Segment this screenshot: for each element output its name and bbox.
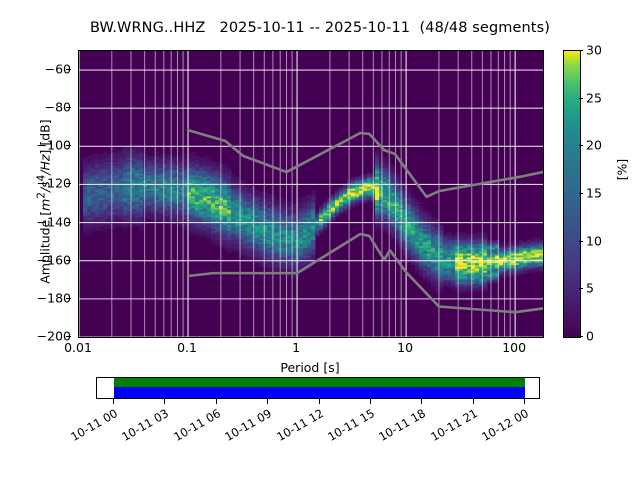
density-cell [531, 238, 535, 240]
density-cell [131, 148, 135, 150]
density-cell [427, 211, 431, 213]
density-cell [327, 198, 331, 200]
density-cell [411, 198, 415, 200]
density-cell [191, 152, 195, 154]
density-cell [227, 167, 231, 169]
ppsd-canvas [79, 51, 543, 337]
colorbar-tick-label: 5 [586, 281, 594, 296]
density-cell [483, 232, 487, 234]
density-cell [143, 154, 147, 156]
x-tick-label: 1 [292, 340, 300, 355]
density-cell [527, 240, 531, 242]
colorbar-tick-label: 20 [586, 138, 602, 153]
density-cell [243, 181, 247, 183]
colorbar-tick-label: 10 [586, 233, 602, 248]
density-cell [107, 154, 111, 156]
density-cell [119, 150, 123, 152]
x-tick-labels: 0.010.1110100 [78, 340, 542, 360]
density-cell [223, 163, 227, 165]
density-cell [307, 194, 311, 196]
density-cell [255, 190, 259, 192]
density-cell [443, 234, 447, 236]
density-cell [183, 154, 187, 156]
y-tick-mark [66, 107, 71, 108]
density-cell [267, 194, 271, 196]
density-cell [231, 175, 235, 177]
density-cell [303, 196, 307, 198]
density-cell [103, 152, 107, 154]
colorbar-tick-mark [579, 50, 583, 51]
x-tick-label: 0.1 [177, 340, 197, 355]
timeline-data-bar [114, 387, 525, 398]
density-cell [235, 177, 239, 179]
density-cell [491, 240, 495, 242]
density-cell [463, 232, 467, 234]
y-tick-mark [66, 260, 71, 261]
y-tick-mark [66, 222, 71, 223]
density-cell [455, 232, 459, 234]
density-cell [499, 244, 503, 246]
colorbar [563, 50, 581, 338]
density-cell [171, 156, 175, 158]
density-cell [91, 154, 95, 156]
density-cell [279, 198, 283, 200]
colorbar-tick-mark [579, 145, 583, 146]
density-cell [351, 177, 355, 179]
density-cell [299, 198, 303, 200]
y-tick-labels: −60−80−100−120−140−160−180−200 [0, 50, 71, 336]
x-tick-label: 0.01 [64, 340, 92, 355]
colorbar-tick-mark [579, 288, 583, 289]
density-cell [251, 186, 255, 188]
page-title: BW.WRNG..HHZ 2025-10-11 -- 2025-10-11 (4… [0, 20, 640, 36]
density-cell [311, 190, 315, 192]
density-cell [383, 156, 387, 158]
y-tick-mark [66, 298, 71, 299]
density-cell [451, 234, 455, 236]
colorbar-tick-label: 0 [586, 329, 594, 344]
density-cell [407, 188, 411, 190]
y-tick-mark [66, 336, 71, 337]
density-cell [379, 158, 383, 160]
timeline-date-labels: 10-11 0010-11 0310-11 0610-11 0910-11 12… [0, 404, 640, 480]
density-cell [83, 234, 87, 236]
x-axis-label: Period [s] [78, 360, 542, 375]
plot-area[interactable] [78, 50, 544, 338]
density-cell [199, 158, 203, 160]
colorbar-tick-label: 30 [586, 43, 602, 58]
density-cell [99, 154, 103, 156]
density-cell [275, 200, 279, 202]
x-tick-label: 10 [397, 340, 413, 355]
density-cell [103, 230, 107, 232]
density-cell [287, 202, 291, 204]
timeline-coverage-bar [114, 378, 525, 387]
density-cell [367, 173, 371, 175]
density-cell [147, 156, 151, 158]
density-cell [335, 188, 339, 190]
colorbar-tick-mark [579, 241, 583, 242]
density-cell [431, 217, 435, 219]
density-cell [535, 238, 539, 240]
density-cell [95, 154, 99, 156]
colorbar-label: [%] [615, 140, 630, 200]
density-cell [87, 156, 91, 158]
density-cell [355, 177, 359, 179]
density-cell [467, 234, 471, 236]
density-cell [391, 165, 395, 167]
density-cell [447, 232, 451, 234]
density-cell [507, 242, 511, 244]
density-cell [83, 158, 87, 160]
y-tick-mark [66, 145, 71, 146]
density-cell [115, 150, 119, 152]
density-cell [419, 202, 423, 204]
density-cell [323, 202, 327, 204]
density-cell [159, 154, 163, 156]
density-cell [331, 194, 335, 196]
density-cell [419, 205, 423, 207]
density-cell [195, 156, 199, 158]
density-cell [259, 192, 263, 194]
density-cell [339, 186, 343, 188]
density-cell [375, 150, 379, 152]
colorbar-tick-mark [579, 193, 583, 194]
density-cell [519, 240, 523, 242]
x-tick-label: 100 [502, 340, 526, 355]
density-cell [363, 173, 367, 175]
colorbar-tick-label: 25 [586, 90, 602, 105]
density-cell [155, 152, 159, 154]
density-cell [415, 200, 419, 202]
density-cell [155, 156, 159, 158]
density-cell [423, 209, 427, 211]
density-cell [99, 228, 103, 230]
colorbar-tick-mark [579, 336, 583, 337]
ppsd-figure: BW.WRNG..HHZ 2025-10-11 -- 2025-10-11 (4… [0, 0, 640, 480]
density-cell [211, 162, 215, 164]
colorbar-tick-label: 15 [586, 186, 602, 201]
density-cell [475, 232, 479, 234]
density-cell [411, 194, 415, 196]
density-cell [215, 162, 219, 164]
density-cell [315, 211, 319, 213]
density-cell [539, 240, 543, 242]
density-cell [503, 244, 507, 246]
density-cell [523, 242, 527, 244]
timeline-box[interactable] [96, 377, 540, 399]
density-cell [263, 192, 267, 194]
density-cell [319, 205, 323, 207]
density-cell [459, 232, 463, 234]
density-cell [495, 240, 499, 242]
density-cell [183, 158, 187, 160]
y-tick-mark [66, 183, 71, 184]
y-tick-mark [66, 69, 71, 70]
colorbar-tick-mark [579, 98, 583, 99]
density-cell [203, 156, 207, 158]
density-cell [207, 160, 211, 162]
density-cell [207, 156, 211, 158]
